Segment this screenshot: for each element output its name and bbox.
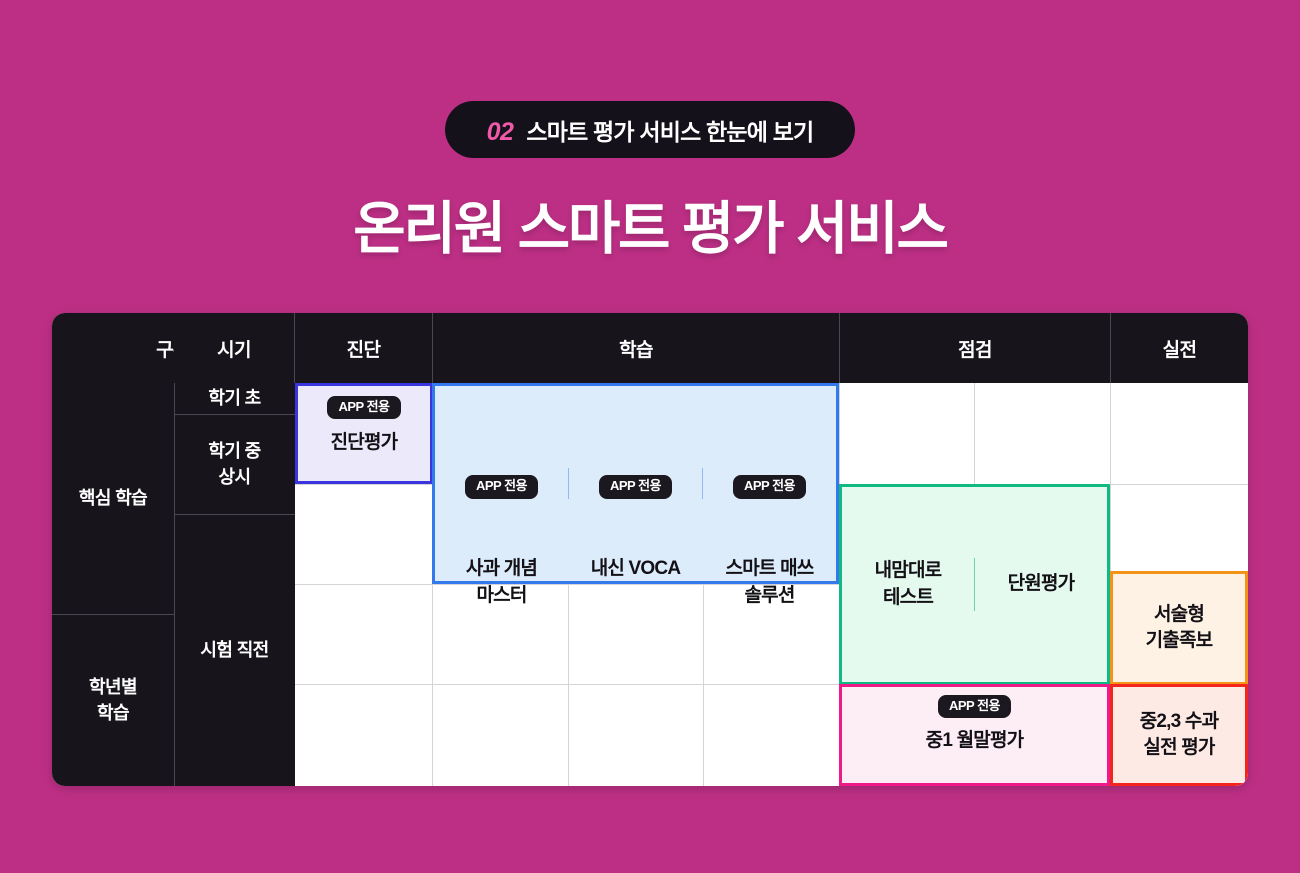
program-practice-label: 중2,3 수과 실전 평가 bbox=[1140, 709, 1219, 761]
app-only-badge: APP 전용 bbox=[938, 695, 1011, 718]
science-line1: 사과 개념 bbox=[466, 558, 537, 579]
service-matrix-table: 구분 진단 학습 점검 실전 시기 핵심 학습 학년별 학습 학기 초 학기 중… bbox=[52, 313, 1248, 786]
program-essay-past-papers[interactable]: 서술형 기출족보 bbox=[1110, 571, 1248, 685]
program-check-group: 내맘대로 테스트 단원평가 bbox=[839, 484, 1110, 685]
section-number: 02 bbox=[487, 118, 514, 147]
my-test-line1: 내맘대로 bbox=[875, 560, 942, 581]
section-badge-wrapper: 02 스마트 평가 서비스 한눈에 보기 bbox=[0, 101, 1300, 158]
timing-mid-line2: 상시 bbox=[219, 464, 251, 490]
program-voca-label: 내신 VOCA bbox=[569, 556, 702, 582]
column-header-practice: 실전 bbox=[1111, 313, 1248, 383]
program-science-concept-master[interactable]: APP 전용 사과 개념 마스터 bbox=[435, 468, 569, 498]
program-smart-math-label: 스마트 매쓰 솔루션 bbox=[703, 556, 836, 608]
column-header-diagnosis: 진단 bbox=[295, 313, 433, 383]
column-header-timing: 시기 bbox=[174, 313, 295, 383]
program-my-test-label: 내맘대로 테스트 bbox=[875, 558, 942, 610]
program-learning-group: APP 전용 사과 개념 마스터 APP 전용 내신 VOCA APP 전용 스… bbox=[432, 383, 839, 584]
app-only-badge: APP 전용 bbox=[465, 475, 538, 498]
timing-mid-line1: 학기 중 bbox=[208, 438, 260, 464]
timing-before-exam: 시험 직전 bbox=[174, 514, 295, 786]
smart-math-line2: 솔루션 bbox=[744, 585, 794, 606]
app-only-badge: APP 전용 bbox=[327, 396, 400, 419]
section-badge-label: 스마트 평가 서비스 한눈에 보기 bbox=[526, 113, 813, 147]
program-practice-evaluation[interactable]: 중2,3 수과 실전 평가 bbox=[1110, 684, 1248, 786]
category-grade-line1: 학년별 bbox=[89, 674, 137, 700]
timing-semester-mid: 학기 중 상시 bbox=[174, 414, 295, 514]
section-badge: 02 스마트 평가 서비스 한눈에 보기 bbox=[445, 101, 856, 158]
smart-math-line1: 스마트 매쓰 bbox=[726, 558, 814, 579]
program-naesin-voca[interactable]: APP 전용 내신 VOCA bbox=[569, 468, 703, 498]
category-core-learning: 핵심 학습 bbox=[52, 383, 174, 614]
practice-line2: 실전 평가 bbox=[1143, 737, 1214, 758]
program-essay-label: 서술형 기출족보 bbox=[1146, 602, 1213, 654]
my-test-line2: 테스트 bbox=[883, 587, 933, 608]
timing-semester-start: 학기 초 bbox=[174, 383, 295, 414]
program-unit-evaluation[interactable]: 단원평가 bbox=[975, 571, 1107, 597]
program-monthly-evaluation[interactable]: APP 전용 중1 월말평가 bbox=[839, 684, 1110, 786]
essay-line2: 기출족보 bbox=[1146, 630, 1213, 651]
app-only-badge: APP 전용 bbox=[733, 475, 806, 498]
practice-line1: 중2,3 수과 bbox=[1140, 711, 1219, 732]
program-smart-math-solution[interactable]: APP 전용 스마트 매쓰 솔루션 bbox=[703, 468, 836, 498]
app-only-badge: APP 전용 bbox=[599, 475, 672, 498]
column-header-learning: 학습 bbox=[433, 313, 840, 383]
category-grade-line2: 학습 bbox=[97, 700, 129, 726]
program-diagnosis-test[interactable]: APP 전용 진단평가 bbox=[295, 383, 433, 484]
page-title: 온리원 스마트 평가 서비스 bbox=[0, 183, 1300, 265]
program-my-own-test[interactable]: 내맘대로 테스트 bbox=[842, 558, 975, 610]
table-grid: 구분 진단 학습 점검 실전 시기 핵심 학습 학년별 학습 학기 초 학기 중… bbox=[52, 313, 1248, 786]
category-grade-learning: 학년별 학습 bbox=[52, 614, 174, 786]
essay-line1: 서술형 bbox=[1154, 604, 1204, 625]
column-header-check: 점검 bbox=[840, 313, 1111, 383]
program-diagnosis-label: 진단평가 bbox=[331, 430, 398, 456]
program-science-concept-label: 사과 개념 마스터 bbox=[435, 556, 568, 608]
program-unit-eval-label: 단원평가 bbox=[1008, 571, 1075, 597]
program-monthly-label: 중1 월말평가 bbox=[926, 728, 1024, 754]
science-line2: 마스터 bbox=[476, 585, 526, 606]
